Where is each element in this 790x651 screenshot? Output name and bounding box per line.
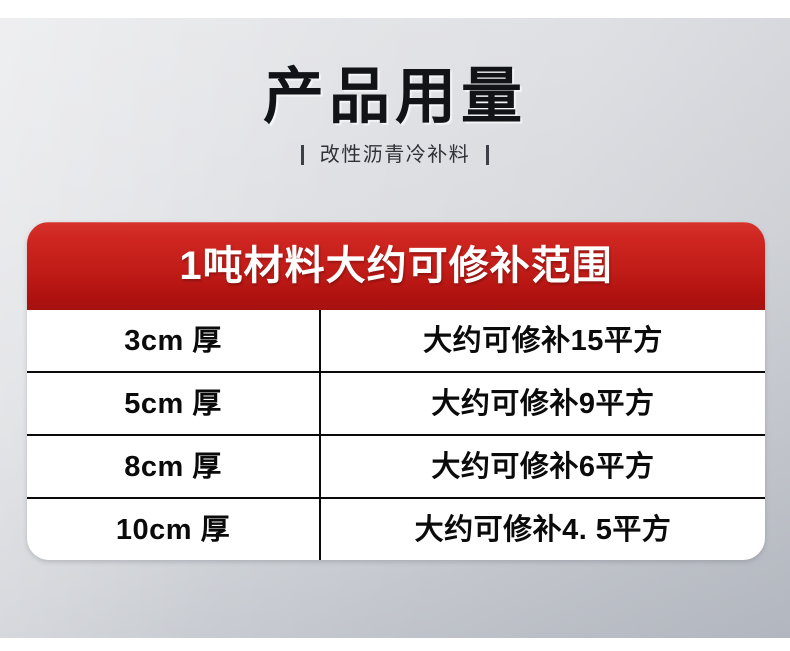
table-cell-thickness: 8cm 厚 — [27, 436, 321, 497]
table-cell-area: 大约可修补9平方 — [321, 373, 765, 434]
usage-table-card: 1吨材料大约可修补范围 3cm 厚 大约可修补15平方 5cm 厚 大约可修补9… — [27, 222, 765, 560]
divider-bar-right-icon — [486, 145, 489, 165]
header-block: 产品用量 改性沥青冷补料 — [0, 60, 790, 167]
area-value: 大约可修补9平方 — [431, 387, 654, 421]
usage-table-header: 1吨材料大约可修补范围 — [27, 222, 765, 310]
table-row: 3cm 厚 大约可修补15平方 — [27, 310, 765, 373]
usage-table-body: 3cm 厚 大约可修补15平方 5cm 厚 大约可修补9平方 8cm 厚 — [27, 310, 765, 560]
table-cell-thickness: 3cm 厚 — [27, 310, 321, 371]
thickness-value: 8cm 厚 — [124, 450, 222, 484]
page-subtitle: 改性沥青冷补料 — [320, 143, 471, 167]
table-cell-area: 大约可修补4. 5平方 — [321, 499, 765, 560]
usage-table-header-label: 1吨材料大约可修补范围 — [179, 243, 612, 289]
thickness-value: 10cm 厚 — [116, 513, 230, 547]
area-value: 大约可修补4. 5平方 — [415, 513, 672, 547]
product-usage-infographic: 产品用量 改性沥青冷补料 1吨材料大约可修补范围 3cm 厚 大约可修补15平方 — [0, 0, 790, 651]
table-row: 5cm 厚 大约可修补9平方 — [27, 373, 765, 436]
thickness-value: 3cm 厚 — [124, 324, 222, 358]
table-cell-area: 大约可修补6平方 — [321, 436, 765, 497]
area-value: 大约可修补15平方 — [423, 324, 663, 358]
area-value: 大约可修补6平方 — [431, 450, 654, 484]
thickness-value: 5cm 厚 — [124, 387, 222, 421]
table-row: 10cm 厚 大约可修补4. 5平方 — [27, 499, 765, 560]
table-cell-thickness: 5cm 厚 — [27, 373, 321, 434]
divider-bar-left-icon — [301, 145, 304, 165]
subtitle-row: 改性沥青冷补料 — [0, 143, 790, 167]
page-title: 产品用量 — [0, 60, 790, 132]
table-row: 8cm 厚 大约可修补6平方 — [27, 436, 765, 499]
table-cell-thickness: 10cm 厚 — [27, 499, 321, 560]
table-cell-area: 大约可修补15平方 — [321, 310, 765, 371]
